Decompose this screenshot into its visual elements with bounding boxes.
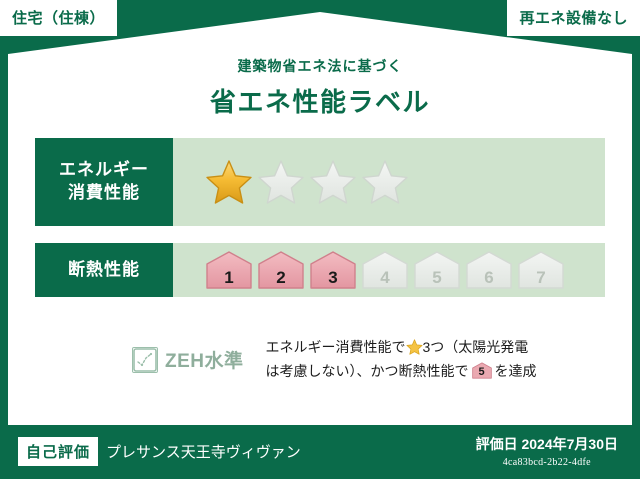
building-name: プレサンス天王寺ヴィヴァン <box>106 441 301 462</box>
evaluation-meta: 評価日 2024年7月30日 4ca83bcd-2b22-4dfe <box>476 434 618 468</box>
insulation-grade-number: 1 <box>205 269 253 286</box>
zeh-mark-label: ZEH水準 <box>165 346 244 373</box>
zeh-desc-line2-post: を達成 <box>495 363 537 379</box>
insulation-grade-badge-6: 6 <box>465 250 513 290</box>
zeh-standard-block: ZEH水準 エネルギー消費性能で 3つ（太陽光発電 は考慮しない）、かつ断熱性能… <box>132 336 537 384</box>
star-rating <box>205 159 409 205</box>
insulation-grade-badge-5: 5 <box>413 250 461 290</box>
zeh-desc-line1-pre: エネルギー消費性能で <box>266 339 406 355</box>
star-icon-empty <box>361 159 409 205</box>
insulation-grade-badge-3: 3 <box>309 250 357 290</box>
insulation-performance-label-box: 断熱性能 <box>35 243 173 297</box>
zeh-mark: ZEH水準 <box>132 336 244 373</box>
page-title: 省エネ性能ラベル <box>0 82 640 119</box>
zeh-checkbox-icon <box>132 347 158 373</box>
insulation-grade-number: 3 <box>309 269 357 286</box>
insulation-label: 断熱性能 <box>68 259 140 282</box>
tag-building-type: 住宅（住棟） <box>0 0 117 36</box>
energy-performance-label-box: エネルギー 消費性能 <box>35 138 173 226</box>
star-icon-empty <box>257 159 305 205</box>
zeh-description-line2: は考慮しない）、かつ断熱性能で 5 を達成 <box>266 360 537 384</box>
zeh-desc-line1-post: 3つ（太陽光発電 <box>423 339 529 355</box>
insulation-grade-number: 7 <box>517 269 565 286</box>
star-icon-empty <box>309 159 357 205</box>
evaluation-id: 4ca83bcd-2b22-4dfe <box>476 457 618 468</box>
energy-performance-label: 住宅（住棟） 再エネ設備なし 建築物省エネ法に基づく 省エネ性能ラベル エネルギ… <box>0 0 640 479</box>
insulation-performance-row: 断熱性能 1 <box>35 243 605 297</box>
inline-house-badge-icon: 5 <box>471 362 493 379</box>
tag-renewable-equipment: 再エネ設備なし <box>507 0 640 36</box>
label-footer: 自己評価 プレサンス天王寺ヴィヴァン 評価日 2024年7月30日 4ca83b… <box>0 425 640 479</box>
insulation-grade-scale: 1 2 3 <box>205 250 565 290</box>
insulation-grade-number: 2 <box>257 269 305 286</box>
self-evaluation-badge: 自己評価 <box>18 437 98 466</box>
insulation-grade-number: 6 <box>465 269 513 286</box>
inline-star-icon <box>406 339 423 355</box>
insulation-grade-number: 4 <box>361 269 409 286</box>
energy-performance-value <box>173 138 605 226</box>
insulation-grade-badge-2: 2 <box>257 250 305 290</box>
evaluation-date: 評価日 2024年7月30日 <box>476 434 618 454</box>
zeh-desc-line2-pre: は考慮しない）、かつ断熱性能で <box>266 363 469 379</box>
star-icon-filled <box>205 159 253 205</box>
energy-performance-row: エネルギー 消費性能 <box>35 138 605 226</box>
inline-grade-number: 5 <box>471 367 493 378</box>
insulation-performance-value: 1 2 3 <box>173 243 605 297</box>
self-evaluation-block: 自己評価 プレサンス天王寺ヴィヴァン <box>18 437 301 466</box>
title-block: 建築物省エネ法に基づく 省エネ性能ラベル <box>0 56 640 119</box>
energy-label-line2: 消費性能 <box>68 182 140 205</box>
energy-label-line1: エネルギー <box>59 159 149 182</box>
zeh-description: エネルギー消費性能で 3つ（太陽光発電 は考慮しない）、かつ断熱性能で 5 を達… <box>266 336 537 384</box>
insulation-grade-number: 5 <box>413 269 461 286</box>
zeh-description-line1: エネルギー消費性能で 3つ（太陽光発電 <box>266 336 537 360</box>
insulation-grade-badge-7: 7 <box>517 250 565 290</box>
insulation-grade-badge-1: 1 <box>205 250 253 290</box>
insulation-grade-badge-4: 4 <box>361 250 409 290</box>
label-subtitle: 建築物省エネ法に基づく <box>0 56 640 76</box>
